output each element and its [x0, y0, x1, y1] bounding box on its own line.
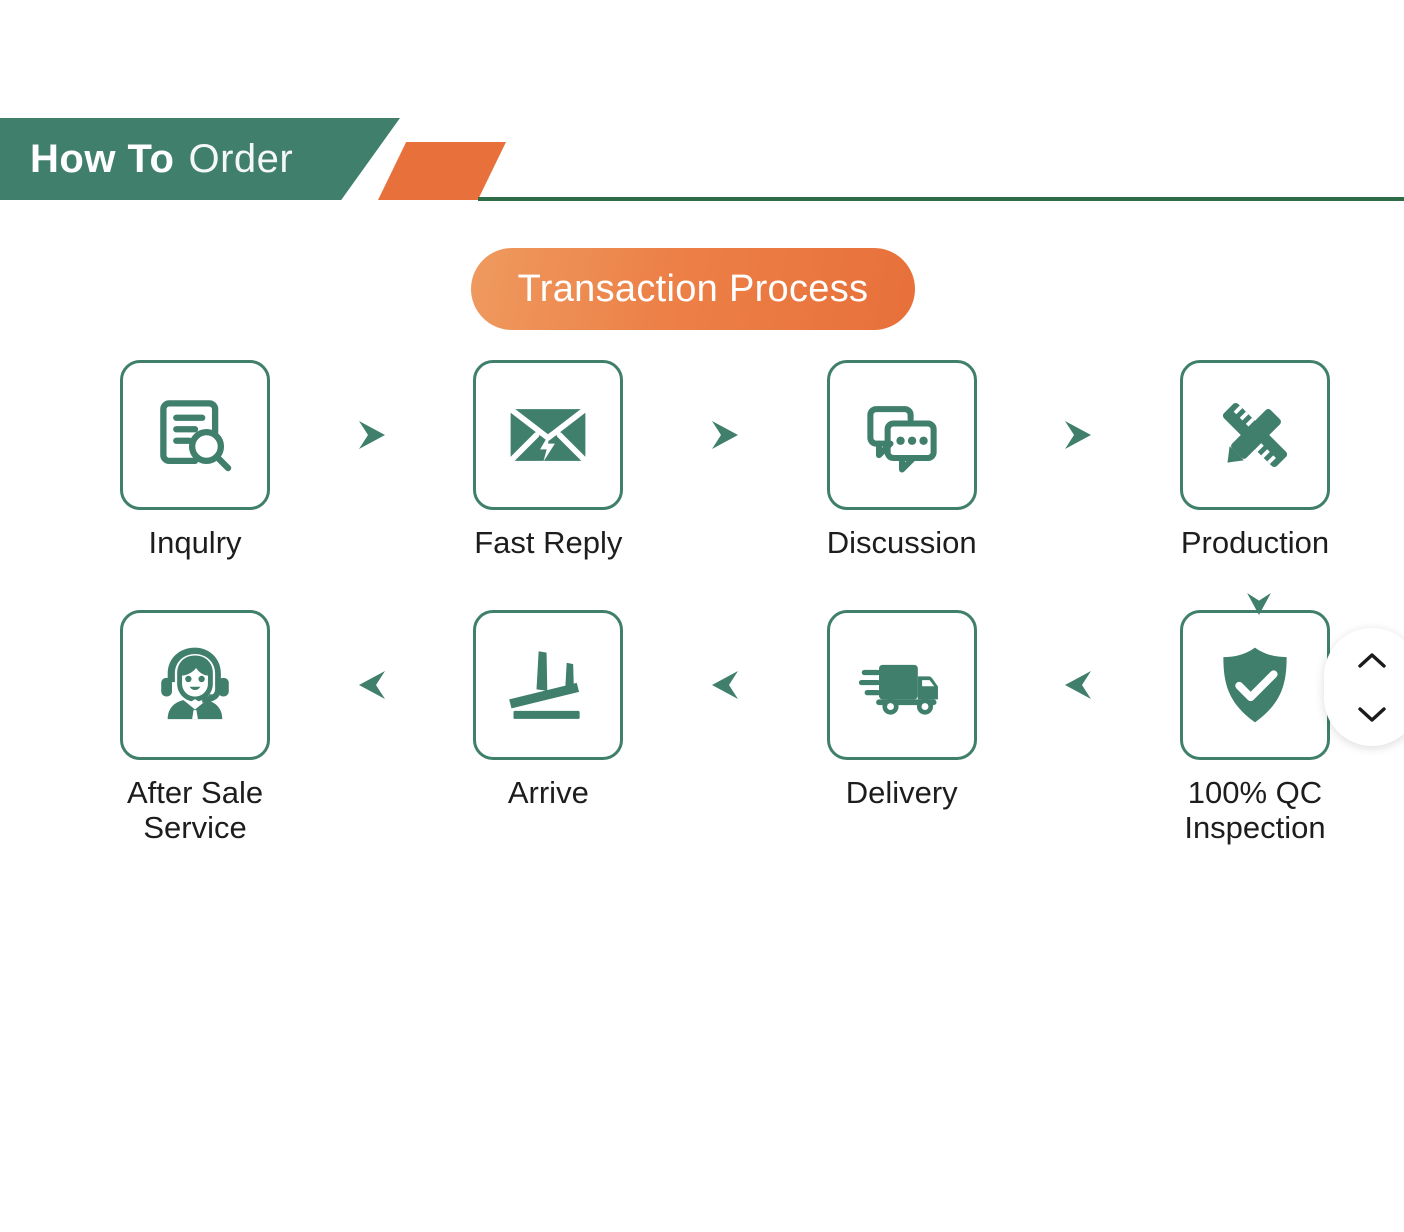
- connector-production-to-qc: [1237, 583, 1281, 625]
- page-title-light: Order: [188, 137, 293, 182]
- arrow-left-icon: [708, 665, 742, 705]
- arrow-left-icon: [355, 665, 389, 705]
- banner-horizontal-rule: [478, 197, 1404, 201]
- step-discussion-card: [827, 360, 977, 510]
- support-agent-icon: [149, 639, 241, 731]
- step-discussion[interactable]: Discussion: [787, 360, 1017, 561]
- pencil-ruler-icon: [1209, 389, 1301, 481]
- page-header-banner: How To Order: [0, 118, 1404, 200]
- step-discussion-label: Discussion: [827, 526, 977, 561]
- step-production-card: [1180, 360, 1330, 510]
- step-fast-reply-label: Fast Reply: [474, 526, 622, 561]
- flow-row-bottom: 100% QC Inspection: [80, 610, 1370, 860]
- document-search-icon: [149, 389, 241, 481]
- step-qc-inspection-card: [1180, 610, 1330, 760]
- connector-inquiry-to-fastreply: [310, 360, 433, 510]
- chevron-down-icon: [1355, 703, 1389, 725]
- step-inquiry-label: Inqulry: [148, 526, 241, 561]
- step-inquiry[interactable]: Inqulry: [80, 360, 310, 561]
- arrow-right-icon: [708, 415, 742, 455]
- delivery-truck-icon: [856, 639, 948, 731]
- step-fast-reply-card: [473, 360, 623, 510]
- step-after-sale-service[interactable]: After Sale Service: [80, 610, 310, 845]
- connector-fastreply-to-discussion: [663, 360, 786, 510]
- step-after-sale-service-card: [120, 610, 270, 760]
- page-title-bold: How To: [30, 137, 174, 182]
- step-inquiry-card: [120, 360, 270, 510]
- flow-row-top: Inqulry: [80, 360, 1370, 610]
- arrow-left-icon: [1061, 665, 1095, 705]
- step-qc-inspection-label: 100% QC Inspection: [1184, 776, 1325, 845]
- arrow-right-icon: [1061, 415, 1095, 455]
- connector-qc-to-delivery: [1017, 610, 1140, 760]
- shield-check-icon: [1209, 639, 1301, 731]
- arrow-down-icon: [1242, 584, 1276, 624]
- step-arrive[interactable]: Arrive: [433, 610, 663, 811]
- process-flow-diagram: Inqulry: [80, 360, 1370, 860]
- step-arrive-card: [473, 610, 623, 760]
- scroll-down-button[interactable]: [1353, 701, 1391, 727]
- envelope-bolt-icon: [502, 389, 594, 481]
- scroll-control[interactable]: [1324, 628, 1404, 746]
- step-delivery[interactable]: Delivery: [787, 610, 1017, 811]
- connector-delivery-to-arrive: [663, 610, 786, 760]
- transaction-process-badge: Transaction Process: [471, 248, 915, 330]
- chevron-up-icon: [1355, 650, 1389, 672]
- step-production-label: Production: [1181, 526, 1329, 561]
- connector-arrive-to-aftersale: [310, 610, 433, 760]
- step-after-sale-service-label: After Sale Service: [127, 776, 263, 845]
- step-fast-reply[interactable]: Fast Reply: [433, 360, 663, 561]
- plane-landing-icon: [502, 639, 594, 731]
- step-delivery-label: Delivery: [846, 776, 958, 811]
- banner-orange-accent: [378, 142, 506, 200]
- speech-bubbles-icon: [856, 389, 948, 481]
- step-delivery-card: [827, 610, 977, 760]
- step-arrive-label: Arrive: [508, 776, 589, 811]
- page-title: How To Order: [30, 118, 293, 200]
- transaction-process-label: Transaction Process: [518, 268, 869, 311]
- connector-discussion-to-production: [1017, 360, 1140, 510]
- arrow-right-icon: [355, 415, 389, 455]
- step-production[interactable]: Production: [1140, 360, 1370, 561]
- scroll-up-button[interactable]: [1353, 648, 1391, 674]
